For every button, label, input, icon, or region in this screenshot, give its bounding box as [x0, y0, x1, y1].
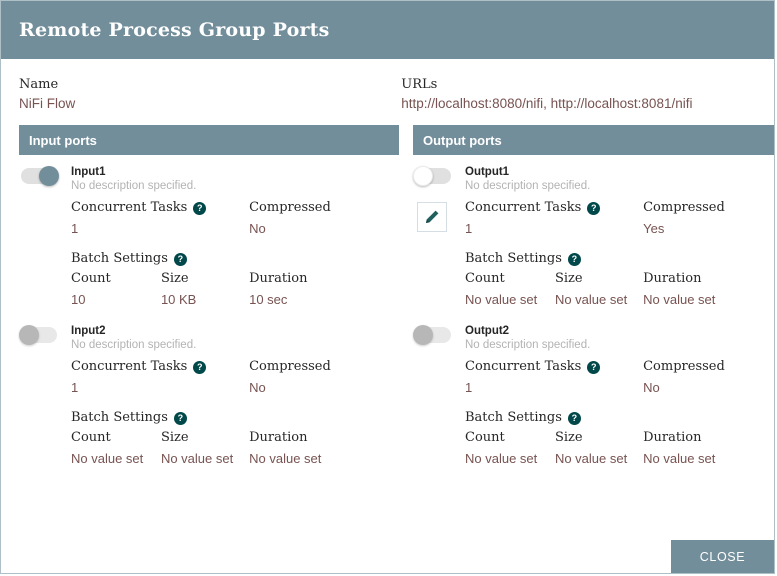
batch-settings-row: Batch Settings ? — [71, 408, 399, 428]
concurrent-compressed-labels: Concurrent Tasks ? Compressed — [465, 357, 775, 377]
remote-process-group-ports-dialog: Remote Process Group Ports Name NiFi Flo… — [0, 0, 775, 574]
page-title: Remote Process Group Ports — [19, 19, 330, 41]
concurrent-compressed-values: 1 No — [71, 218, 399, 239]
port-name: Input1 — [71, 165, 196, 179]
port-detail: Concurrent Tasks ? Compressed 1 No — [19, 194, 399, 310]
concurrent-compressed-labels: Concurrent Tasks ? Compressed — [71, 357, 399, 377]
concurrent-tasks-value: 1 — [465, 218, 643, 239]
help-icon[interactable]: ? — [568, 412, 581, 425]
toggle-knob — [39, 166, 59, 186]
concurrent-tasks-label-text: Concurrent Tasks — [71, 357, 187, 377]
output-ports-list: Output1 No description specified. — [413, 155, 775, 483]
concurrent-tasks-value: 1 — [71, 377, 249, 398]
batch-labels: Count Size Duration — [71, 269, 399, 289]
batch-settings-label-text: Batch Settings — [71, 408, 168, 428]
concurrent-tasks-label: Concurrent Tasks ? — [71, 357, 249, 377]
port-enable-toggle[interactable] — [413, 166, 453, 186]
urls-label: URLs — [401, 77, 756, 92]
edit-port-button[interactable] — [417, 202, 447, 232]
input-ports-header: Input ports — [19, 125, 399, 155]
batch-settings-label: Batch Settings ? — [465, 408, 581, 428]
port-description: No description specified. — [71, 338, 196, 353]
concurrent-tasks-label-text: Concurrent Tasks — [465, 198, 581, 218]
concurrent-tasks-label-text: Concurrent Tasks — [71, 198, 187, 218]
compressed-value: No — [249, 218, 399, 239]
port-description: No description specified. — [71, 179, 196, 194]
port-identity: Input2 No description specified. — [59, 324, 196, 353]
list-item: Output1 No description specified. — [413, 165, 775, 324]
help-icon[interactable]: ? — [193, 202, 206, 215]
port-head: Input2 No description specified. — [19, 324, 399, 353]
count-value: 10 — [71, 289, 161, 310]
port-head: Output2 No description specified. — [413, 324, 775, 353]
port-detail: Concurrent Tasks ? Compressed 1 Yes — [413, 194, 775, 310]
concurrent-compressed-values: 1 Yes — [465, 218, 775, 239]
count-label: Count — [465, 269, 555, 289]
port-head: Output1 No description specified. — [413, 165, 775, 194]
size-label: Size — [161, 428, 249, 448]
batch-settings-label-text: Batch Settings — [465, 408, 562, 428]
close-button[interactable]: CLOSE — [671, 540, 774, 573]
count-value: No value set — [71, 448, 161, 469]
input-ports-list: Input1 No description specified. Concurr… — [19, 155, 399, 483]
help-icon[interactable]: ? — [587, 361, 600, 374]
urls-value: http://localhost:8080/nifi, http://local… — [401, 96, 756, 111]
size-label: Size — [555, 269, 643, 289]
compressed-label: Compressed — [643, 357, 775, 377]
batch-settings-label: Batch Settings ? — [71, 249, 187, 269]
help-icon[interactable]: ? — [568, 253, 581, 266]
batch-settings-label-text: Batch Settings — [465, 249, 562, 269]
port-enable-toggle[interactable] — [19, 325, 59, 345]
port-head: Input1 No description specified. — [19, 165, 399, 194]
duration-label: Duration — [249, 269, 399, 289]
concurrent-compressed-labels: Concurrent Tasks ? Compressed — [465, 198, 775, 218]
compressed-value: Yes — [643, 218, 775, 239]
concurrent-tasks-label: Concurrent Tasks ? — [465, 198, 643, 218]
size-label: Size — [555, 428, 643, 448]
batch-settings-row: Batch Settings ? — [465, 249, 775, 269]
batch-settings-label: Batch Settings ? — [465, 249, 581, 269]
duration-label: Duration — [643, 428, 775, 448]
batch-values: No value set No value set No value set — [465, 289, 775, 310]
port-identity: Input1 No description specified. — [59, 165, 196, 194]
urls-field: URLs http://localhost:8080/nifi, http://… — [387, 77, 756, 111]
name-value: NiFi Flow — [19, 96, 387, 111]
duration-value: No value set — [643, 448, 775, 469]
list-item: Output2 No description specified. Concur… — [413, 324, 775, 483]
batch-labels: Count Size Duration — [465, 428, 775, 448]
dialog-footer: CLOSE — [1, 541, 774, 573]
size-value: 10 KB — [161, 289, 249, 310]
port-name: Input2 — [71, 324, 196, 338]
list-item: Input2 No description specified. Concurr… — [19, 324, 399, 483]
compressed-value: No — [643, 377, 775, 398]
count-label: Count — [71, 269, 161, 289]
port-name: Output2 — [465, 324, 590, 338]
port-enable-toggle[interactable] — [413, 325, 453, 345]
compressed-label: Compressed — [249, 198, 399, 218]
batch-labels: Count Size Duration — [465, 269, 775, 289]
concurrent-tasks-label: Concurrent Tasks ? — [71, 198, 249, 218]
size-value: No value set — [555, 448, 643, 469]
name-field: Name NiFi Flow — [19, 77, 387, 111]
concurrent-compressed-labels: Concurrent Tasks ? Compressed — [71, 198, 399, 218]
toggle-knob — [413, 325, 433, 345]
summary-row: Name NiFi Flow URLs http://localhost:808… — [1, 59, 774, 111]
concurrent-compressed-values: 1 No — [71, 377, 399, 398]
toggle-knob — [413, 166, 433, 186]
duration-value: 10 sec — [249, 289, 399, 310]
input-ports-panel: Input ports Input1 No description specif… — [19, 125, 399, 483]
size-value: No value set — [555, 289, 643, 310]
duration-label: Duration — [643, 269, 775, 289]
duration-value: No value set — [249, 448, 399, 469]
batch-settings-label: Batch Settings ? — [71, 408, 187, 428]
compressed-label: Compressed — [249, 357, 399, 377]
batch-values: 10 10 KB 10 sec — [71, 289, 399, 310]
pencil-icon — [424, 209, 440, 225]
help-icon[interactable]: ? — [587, 202, 600, 215]
count-value: No value set — [465, 448, 555, 469]
output-ports-panel: Output ports Output1 No description spec… — [413, 125, 775, 483]
compressed-value: No — [249, 377, 399, 398]
port-description: No description specified. — [465, 179, 590, 194]
concurrent-tasks-value: 1 — [465, 377, 643, 398]
help-icon[interactable]: ? — [174, 253, 187, 266]
help-icon[interactable]: ? — [174, 412, 187, 425]
count-label: Count — [465, 428, 555, 448]
port-name: Output1 — [465, 165, 590, 179]
port-description: No description specified. — [465, 338, 590, 353]
name-label: Name — [19, 77, 387, 92]
count-value: No value set — [465, 289, 555, 310]
batch-values: No value set No value set No value set — [465, 448, 775, 469]
batch-labels: Count Size Duration — [71, 428, 399, 448]
concurrent-compressed-values: 1 No — [465, 377, 775, 398]
port-identity: Output1 No description specified. — [453, 165, 590, 194]
compressed-label: Compressed — [643, 198, 775, 218]
list-item: Input1 No description specified. Concurr… — [19, 165, 399, 324]
output-ports-header: Output ports — [413, 125, 775, 155]
port-detail: Concurrent Tasks ? Compressed 1 No — [413, 353, 775, 469]
duration-value: No value set — [643, 289, 775, 310]
duration-label: Duration — [249, 428, 399, 448]
port-identity: Output2 No description specified. — [453, 324, 590, 353]
size-value: No value set — [161, 448, 249, 469]
concurrent-tasks-label: Concurrent Tasks ? — [465, 357, 643, 377]
toggle-knob — [19, 325, 39, 345]
size-label: Size — [161, 269, 249, 289]
dialog-body: Name NiFi Flow URLs http://localhost:808… — [1, 59, 774, 483]
count-label: Count — [71, 428, 161, 448]
batch-values: No value set No value set No value set — [71, 448, 399, 469]
port-detail: Concurrent Tasks ? Compressed 1 No — [19, 353, 399, 469]
batch-settings-row: Batch Settings ? — [465, 408, 775, 428]
concurrent-tasks-value: 1 — [71, 218, 249, 239]
concurrent-tasks-label-text: Concurrent Tasks — [465, 357, 581, 377]
ports-panels: Input ports Input1 No description specif… — [1, 111, 774, 483]
port-enable-toggle[interactable] — [19, 166, 59, 186]
batch-settings-row: Batch Settings ? — [71, 249, 399, 269]
dialog-header: Remote Process Group Ports — [1, 1, 774, 59]
batch-settings-label-text: Batch Settings — [71, 249, 168, 269]
help-icon[interactable]: ? — [193, 361, 206, 374]
